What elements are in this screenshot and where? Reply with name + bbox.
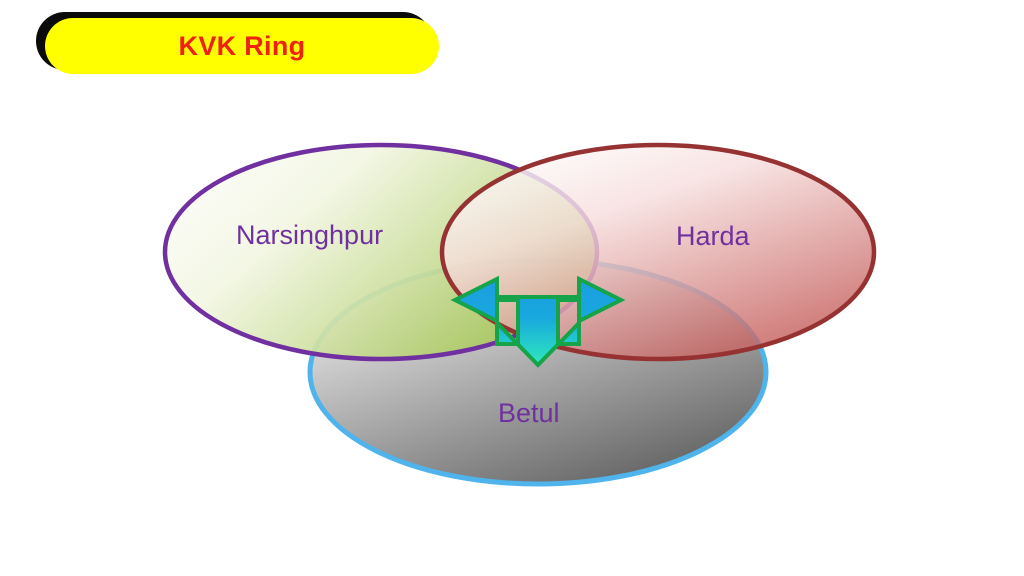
slide-canvas: KVK Ring (0, 0, 1024, 576)
venn-diagram (0, 0, 1024, 576)
venn-set-harda[interactable] (442, 145, 874, 359)
